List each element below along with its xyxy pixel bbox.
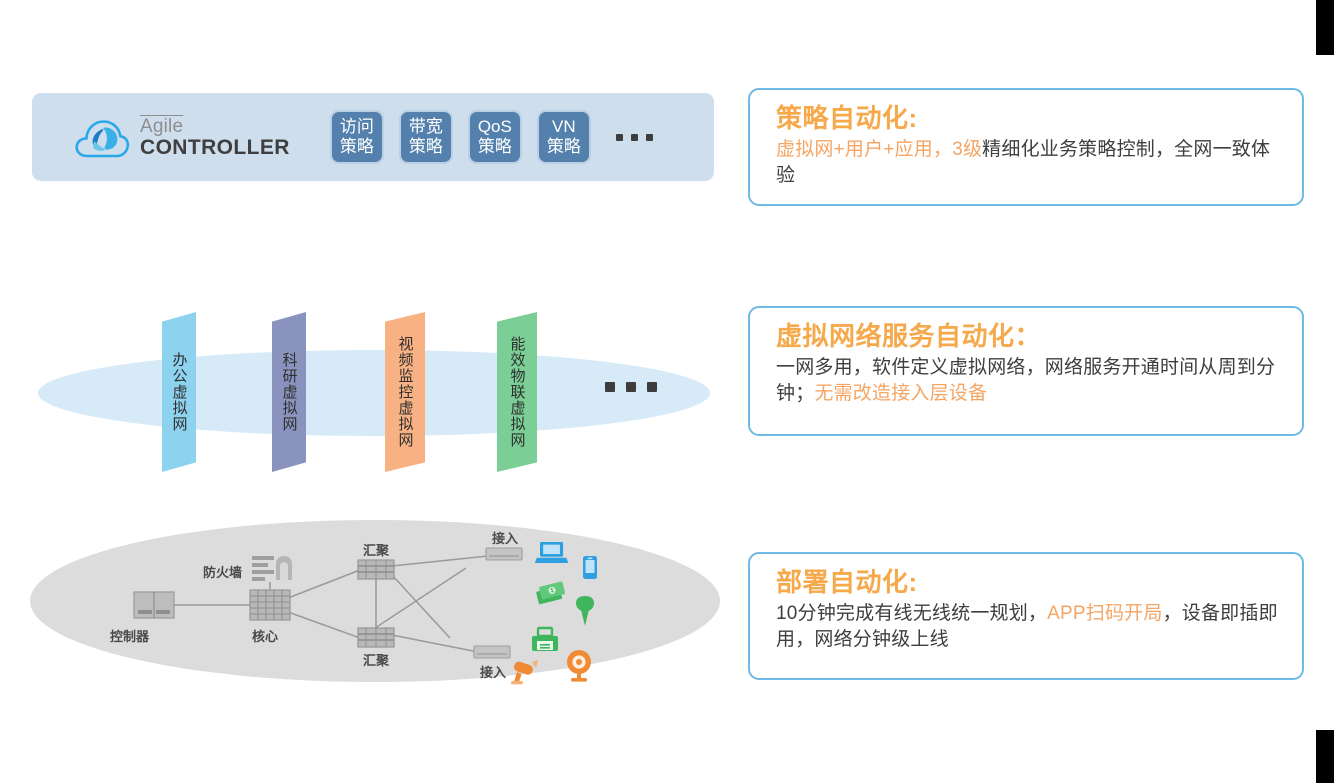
virtual-network-plane-video-surveillance-label: 视频监控 虚拟网 (397, 336, 414, 448)
feature-card-virtual-network-service-automation: 虚拟网络服务自动化： 一网多用，软件定义虚拟网络，网络服务开通时间从周到分钟；无… (748, 306, 1304, 436)
policy-chip-access-line1: 访问 (340, 117, 374, 137)
virtual-network-plane-office[interactable]: 办公虚拟网 (162, 312, 196, 472)
node-label-access-bottom: 接入 (480, 662, 506, 681)
policy-more-ellipsis-icon[interactable] (616, 134, 653, 141)
ellipsis-dot (647, 382, 657, 392)
brand-text: Agile CONTROLLER (140, 117, 290, 158)
agile-controller-logo: Agile CONTROLLER (74, 115, 290, 159)
virtual-network-plane-research[interactable]: 科研虚拟网 (272, 312, 306, 472)
printer-icon (532, 628, 558, 651)
policy-chip-vn-line1: VN (552, 117, 576, 137)
lightbulb-icon (576, 596, 594, 626)
node-label-access-top: 接入 (492, 528, 518, 547)
feature-card-deployment-automation: 部署自动化: 10分钟完成有线无线统一规划，APP扫码开局，设备即插即用，网络分… (748, 552, 1304, 680)
node-label-core: 核心 (252, 626, 278, 645)
brand-agile-macron: Agile (140, 116, 183, 137)
virtual-network-plane-video-surveillance[interactable]: 视频监控 虚拟网 (385, 312, 425, 472)
aggregation-switch-bottom-icon (358, 628, 394, 647)
policy-chip-bandwidth-line2: 策略 (409, 137, 443, 157)
virtual-network-plane-office-label: 办公虚拟网 (171, 352, 188, 432)
policy-chip-bandwidth[interactable]: 带宽 策略 (399, 110, 453, 164)
body-highlight: 无需改造接入层设备 (814, 383, 987, 404)
policy-chip-vn[interactable]: VN 策略 (537, 110, 591, 164)
brand-agile: Agile (140, 117, 290, 136)
policy-chip-qos-line1: QoS (478, 117, 512, 137)
tablet-phone-icon (583, 556, 597, 579)
policy-chip-qos-line2: 策略 (478, 137, 512, 157)
brand-controller: CONTROLLER (140, 137, 290, 158)
policy-chip-vn-line2: 策略 (547, 137, 581, 157)
policy-chip-access-line2: 策略 (340, 137, 374, 157)
cloud-swirl-icon (74, 115, 130, 159)
virtual-network-ellipse (38, 350, 710, 436)
webcam-icon (567, 650, 591, 682)
node-label-aggregation-top: 汇聚 (363, 540, 389, 559)
feature-card-deployment-automation-body: 10分钟完成有线无线统一规划，APP扫码开局，设备即插即用，网络分钟级上线 (776, 601, 1280, 653)
ellipsis-dot (646, 134, 653, 141)
access-switch-top-icon (486, 548, 522, 560)
physical-network-stage: 控制器 防火墙 核心 汇聚 汇聚 接入 接入 (30, 520, 720, 690)
feature-card-virtual-network-service-automation-title: 虚拟网络服务自动化： (776, 320, 1280, 353)
laptop-icon (535, 542, 569, 563)
feature-card-policy-automation: 策略自动化: 虚拟网+用户+应用，3级精细化业务策略控制，全网一致体验 (748, 88, 1304, 206)
feature-card-virtual-network-service-automation-body: 一网多用，软件定义虚拟网络，网络服务开通时间从周到分钟；无需改造接入层设备 (776, 355, 1280, 407)
policy-chip-bandwidth-line1: 带宽 (409, 117, 443, 137)
body-normal: 10分钟完成有线无线统一规划， (776, 603, 1047, 624)
policy-chip-access[interactable]: 访问 策略 (330, 110, 384, 164)
controller-node-icon (134, 592, 174, 618)
policy-chip-qos[interactable]: QoS 策略 (468, 110, 522, 164)
ellipsis-dot (631, 134, 638, 141)
feature-card-policy-automation-body: 虚拟网+用户+应用，3级精细化业务策略控制，全网一致体验 (776, 137, 1280, 189)
vn-label-col1: 能效物联 (509, 336, 526, 400)
access-switch-bottom-icon (474, 646, 510, 658)
decorative-edge-bar-top (1316, 0, 1334, 55)
ellipsis-dot (605, 382, 615, 392)
node-label-firewall: 防火墙 (203, 562, 242, 581)
ellipsis-dot (616, 134, 623, 141)
feature-card-deployment-automation-title: 部署自动化: (776, 566, 1280, 599)
core-switch-icon (250, 590, 290, 620)
cash-money-icon (535, 581, 566, 604)
virtual-network-plane-energy-iot-label: 能效物联 虚拟网 (509, 336, 526, 448)
virtual-network-stage: 办公虚拟网 科研虚拟网 视频监控 虚拟网 能效物联 虚拟网 (32, 292, 722, 492)
agile-controller-bar: Agile CONTROLLER 访问 策略 带宽 策略 QoS 策略 VN 策… (32, 93, 714, 181)
virtual-network-more-ellipsis-icon[interactable] (605, 382, 657, 392)
feature-card-policy-automation-title: 策略自动化: (776, 102, 1280, 135)
firewall-node-icon (252, 556, 292, 592)
node-label-aggregation-bottom: 汇聚 (363, 650, 389, 669)
body-highlight: 虚拟网+用户+应用，3级 (776, 139, 982, 160)
vn-label-col2: 虚拟网 (509, 400, 526, 448)
aggregation-switch-top-icon (358, 560, 394, 579)
virtual-network-plane-energy-iot[interactable]: 能效物联 虚拟网 (497, 312, 537, 472)
virtual-network-plane-research-label: 科研虚拟网 (281, 352, 298, 432)
vn-label-col1: 视频监控 (397, 336, 414, 400)
policy-chip-row: 访问 策略 带宽 策略 QoS 策略 VN 策略 (330, 110, 653, 164)
decorative-edge-bar-bottom (1316, 730, 1334, 783)
ellipsis-dot (626, 382, 636, 392)
body-highlight: APP扫码开局 (1047, 603, 1162, 624)
cctv-camera-icon (511, 660, 538, 684)
vn-label-col2: 虚拟网 (397, 400, 414, 448)
node-label-controller: 控制器 (110, 626, 149, 645)
